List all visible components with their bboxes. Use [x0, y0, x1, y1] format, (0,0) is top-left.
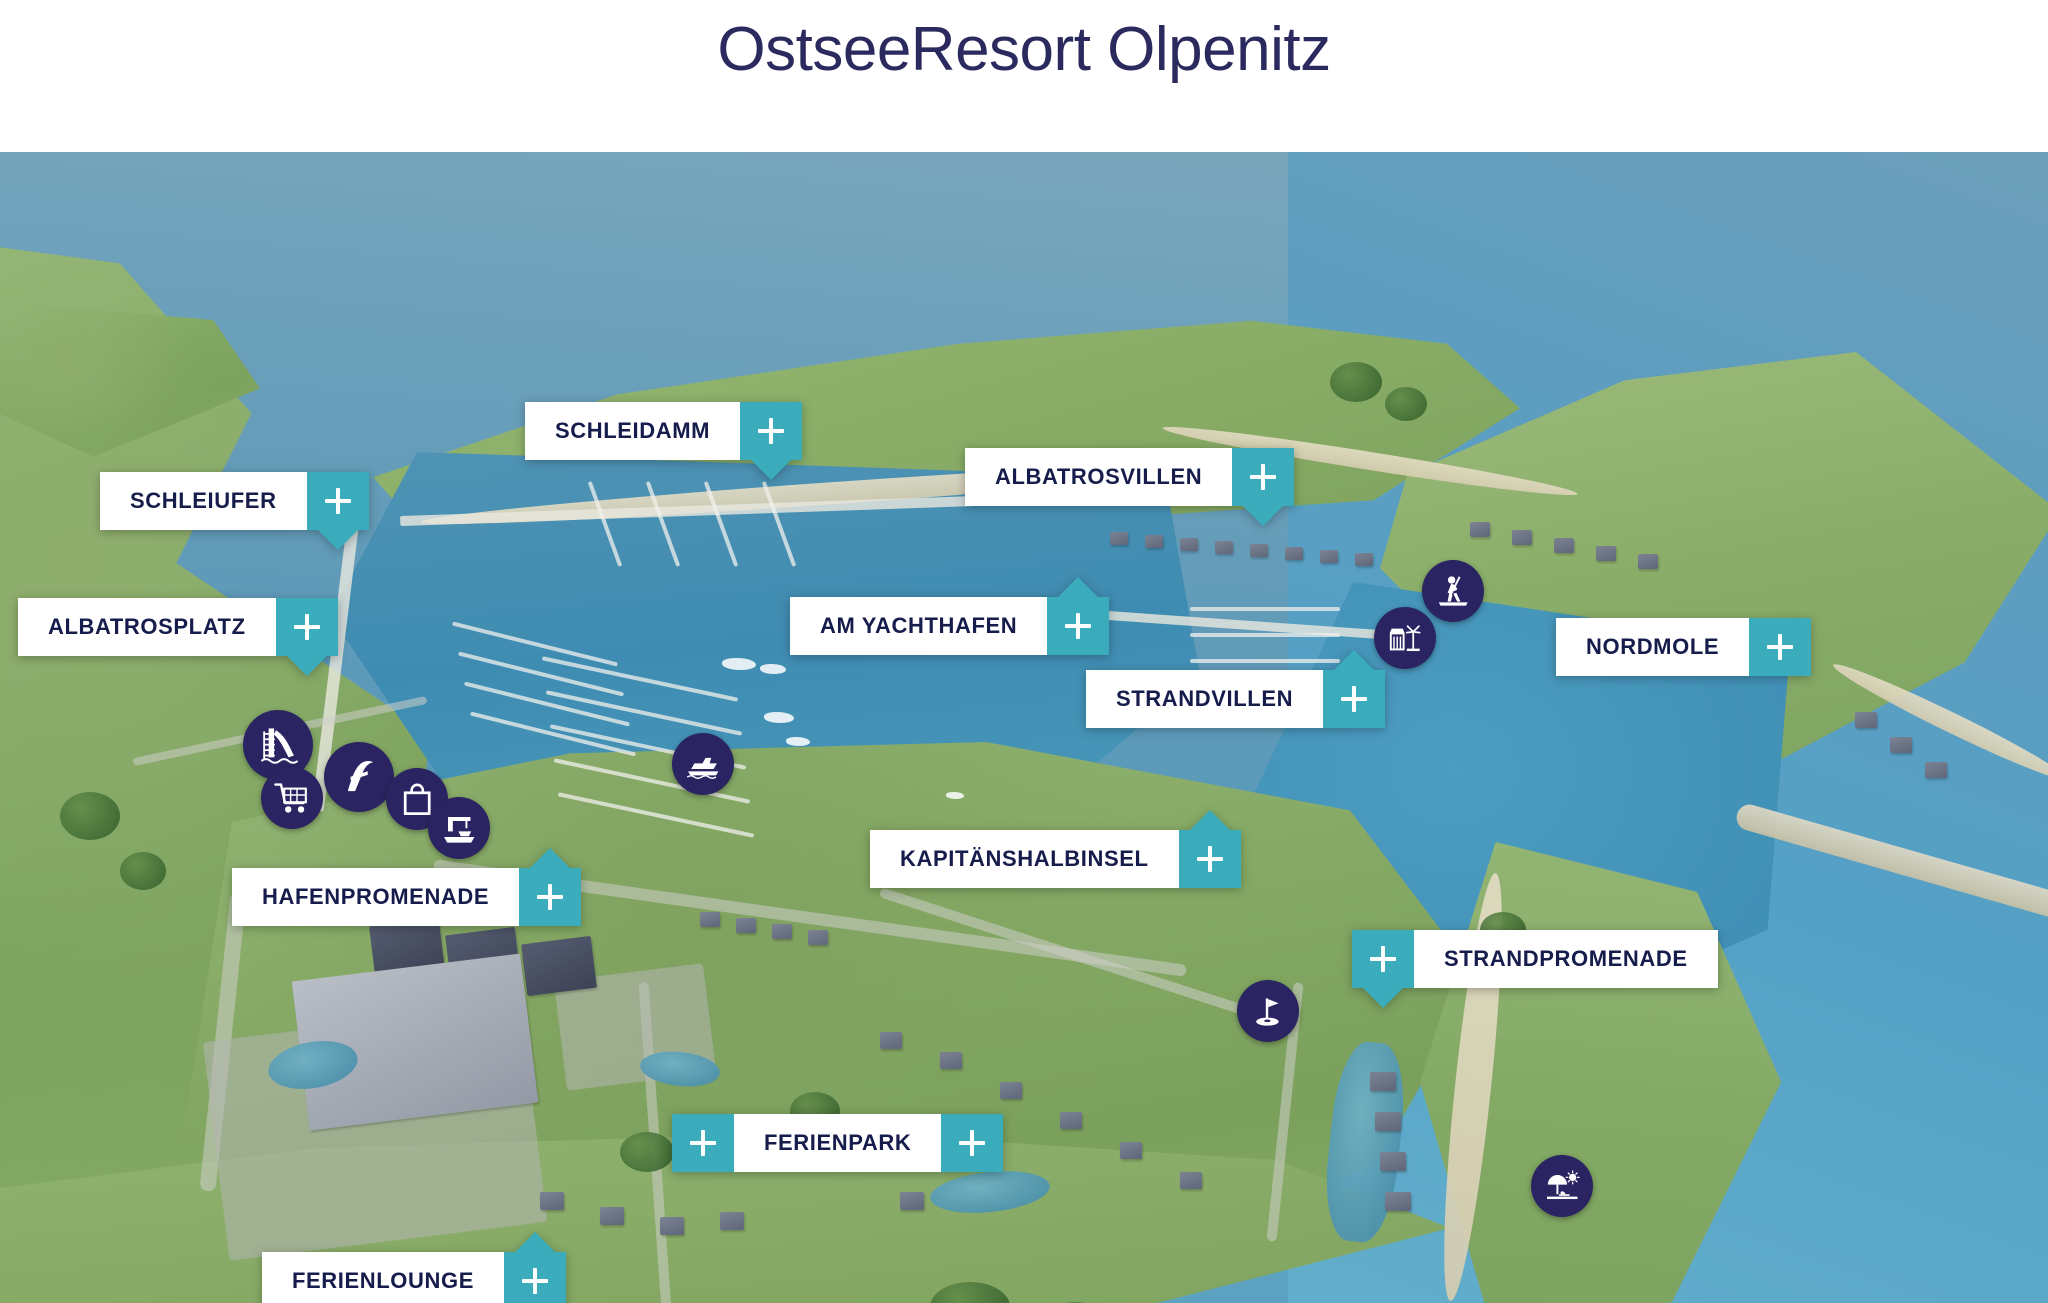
hotspot-schleidamm[interactable]: SCHLEIDAMM: [525, 402, 802, 460]
shopping-cart-icon: [273, 779, 311, 817]
hotspot-label: STRANDPROMENADE: [1414, 930, 1718, 988]
hotspot-ferienlounge[interactable]: FERIENLOUNGE: [262, 1252, 566, 1303]
hotspot-label: FERIENPARK: [734, 1114, 941, 1172]
boat-crane-icon: [440, 809, 478, 847]
poi-marina[interactable]: [672, 733, 734, 795]
hotspot-label: STRANDVILLEN: [1086, 670, 1323, 728]
f-monogram-icon: [337, 755, 380, 798]
hotspot-plus-button[interactable]: [519, 868, 581, 926]
motorboat-icon: [684, 745, 722, 783]
poi-market[interactable]: [1374, 607, 1436, 669]
poi-paddleboard[interactable]: [1422, 560, 1484, 622]
hotspot-hafenpromenade[interactable]: HAFENPROMENADE: [232, 868, 581, 926]
hotspot-label: NORDMOLE: [1556, 618, 1749, 676]
hotspot-label: SCHLEIDAMM: [525, 402, 740, 460]
hotspot-plus-button[interactable]: [504, 1252, 566, 1303]
hotspot-am-yachthafen[interactable]: AM YACHTHAFEN: [790, 597, 1109, 655]
hotspot-plus-button[interactable]: [1179, 830, 1241, 888]
hotspot-kapitaenshalbinsel[interactable]: KAPITÄNSHALBINSEL: [870, 830, 1241, 888]
hotspot-label: FERIENLOUNGE: [262, 1252, 504, 1303]
poi-supermarket[interactable]: [261, 767, 323, 829]
hotspot-label: HAFENPROMENADE: [232, 868, 519, 926]
hotspot-label: KAPITÄNSHALBINSEL: [870, 830, 1179, 888]
hotspot-label: SCHLEIUFER: [100, 472, 307, 530]
resort-map-page: OstseeResort Olpenitz: [0, 0, 2048, 1303]
hotspot-plus-button[interactable]: [1352, 930, 1414, 988]
hotspot-label: ALBATROSVILLEN: [965, 448, 1232, 506]
hotspot-strandpromenade[interactable]: STRANDPROMENADE: [1352, 930, 1718, 988]
hotspot-plus-button-right[interactable]: [941, 1114, 1003, 1172]
hotspot-plus-button[interactable]: [1232, 448, 1294, 506]
hotspot-strandvillen[interactable]: STRANDVILLEN: [1086, 670, 1385, 728]
hotspot-albatrosvillen[interactable]: ALBATROSVILLEN: [965, 448, 1294, 506]
poi-beach[interactable]: [1531, 1155, 1593, 1217]
golf-flag-icon: [1249, 992, 1287, 1030]
water-slide-icon: [256, 723, 299, 766]
poi-f-monogram[interactable]: [324, 742, 394, 812]
hotspot-plus-button[interactable]: [740, 402, 802, 460]
hotspot-plus-button[interactable]: [1323, 670, 1385, 728]
market-building-icon: [1386, 619, 1424, 657]
hotspot-plus-button[interactable]: [307, 472, 369, 530]
poi-boatyard[interactable]: [428, 797, 490, 859]
resort-map[interactable]: SCHLEIDAMM SCHLEIUFER ALBATROSVILLEN ALB…: [0, 152, 2048, 1303]
hotspot-label: ALBATROSPLATZ: [18, 598, 276, 656]
poi-golf[interactable]: [1237, 980, 1299, 1042]
hotspot-plus-button[interactable]: [1047, 597, 1109, 655]
beach-umbrella-icon: [1543, 1167, 1581, 1205]
hotspot-plus-button-left[interactable]: [672, 1114, 734, 1172]
hotspot-plus-button[interactable]: [276, 598, 338, 656]
paddleboard-icon: [1434, 572, 1472, 610]
hotspot-ferienpark[interactable]: FERIENPARK: [672, 1114, 1003, 1172]
shopping-bag-icon: [398, 780, 436, 818]
hotspot-albatrosplatz[interactable]: ALBATROSPLATZ: [18, 598, 338, 656]
hotspot-label: AM YACHTHAFEN: [790, 597, 1047, 655]
hotspot-plus-button[interactable]: [1749, 618, 1811, 676]
hotspot-schleiufer[interactable]: SCHLEIUFER: [100, 472, 369, 530]
hotspot-nordmole[interactable]: NORDMOLE: [1556, 618, 1811, 676]
page-title: OstseeResort Olpenitz: [0, 14, 2048, 85]
